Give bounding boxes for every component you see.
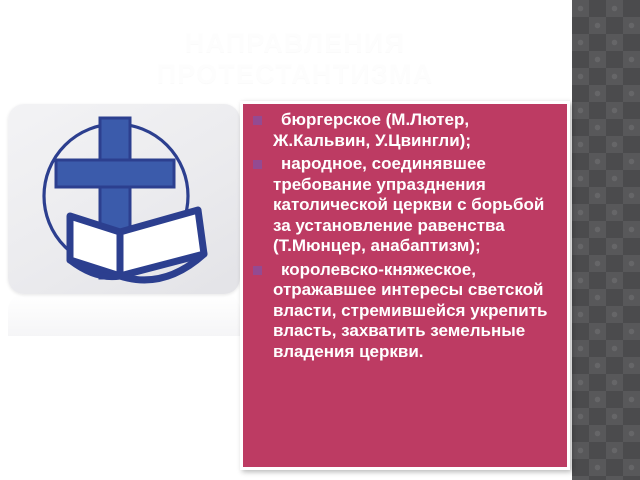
bullet-marker-icon bbox=[253, 116, 262, 125]
list-item: бюргерское (М.Лютер, Ж.Кальвин, У.Цвингл… bbox=[251, 110, 559, 151]
emblem-plate-reflection bbox=[8, 294, 240, 336]
cross-and-open-book-icon bbox=[8, 104, 240, 294]
list-item: королевско-княжеское, отражавшее интерес… bbox=[251, 260, 559, 363]
list-item-text: бюргерское (М.Лютер, Ж.Кальвин, У.Цвингл… bbox=[273, 110, 471, 150]
list-item-text: королевско-княжеское, отражавшее интерес… bbox=[273, 260, 548, 361]
emblem-image-plate bbox=[8, 104, 240, 294]
bullet-list: бюргерское (М.Лютер, Ж.Кальвин, У.Цвингл… bbox=[251, 110, 559, 362]
list-item: народное, соединявшее требование упраздн… bbox=[251, 154, 559, 257]
presentation-slide: НАПРАВЛЕНИЯ ПРОТЕСТАНТИЗМА бюргерско bbox=[0, 0, 640, 480]
content-text-box: бюргерское (М.Лютер, Ж.Кальвин, У.Цвингл… bbox=[240, 101, 570, 470]
slide-title-line-2: ПРОТЕСТАНТИЗМА bbox=[30, 59, 560, 90]
bullet-marker-icon bbox=[253, 266, 262, 275]
bullet-marker-icon bbox=[253, 160, 262, 169]
list-item-text: народное, соединявшее требование упраздн… bbox=[273, 154, 544, 255]
slide-title-line-1: НАПРАВЛЕНИЯ bbox=[30, 28, 560, 59]
decorative-diamond-band bbox=[572, 0, 640, 480]
slide-title: НАПРАВЛЕНИЯ ПРОТЕСТАНТИЗМА bbox=[30, 28, 560, 90]
